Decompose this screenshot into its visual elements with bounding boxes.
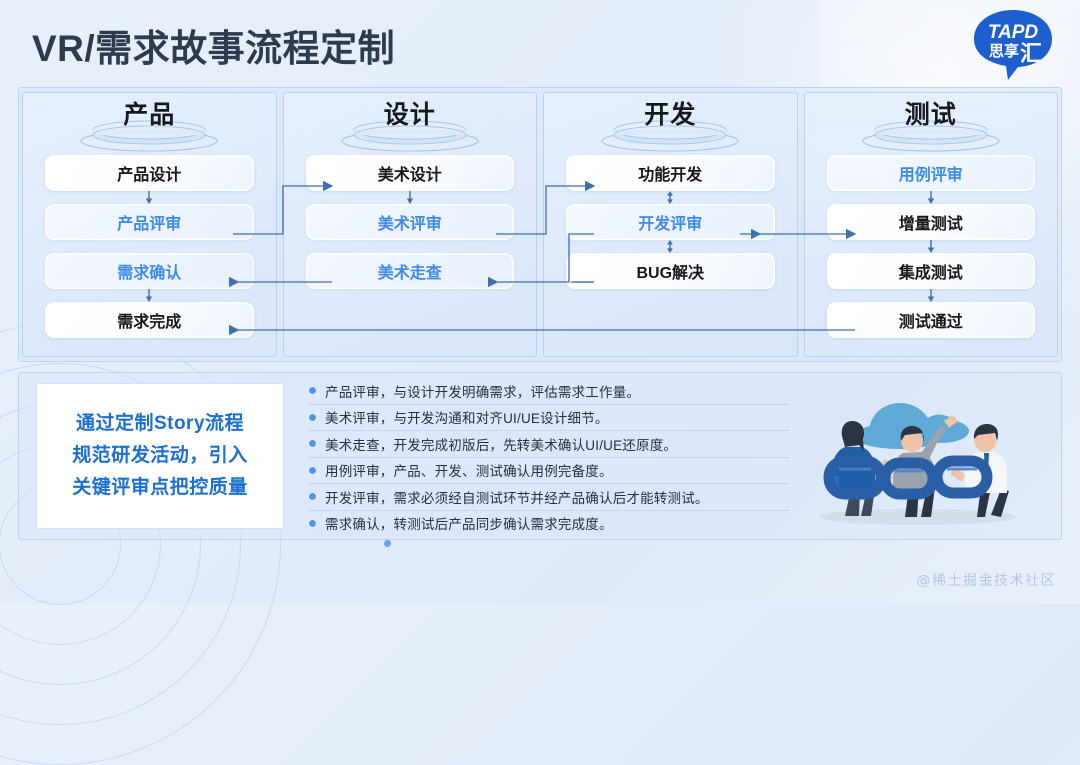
node-kaifa-pingshen[interactable]: 开发评审 (566, 204, 775, 240)
node-xuqiu-queren[interactable]: 需求确认 (45, 253, 254, 289)
callout-box: 通过定制Story流程 规范研发活动，引入 关键评审点把控质量 (36, 383, 284, 529)
node-chanpin-sheji[interactable]: 产品设计 (45, 155, 254, 191)
node-bug-jiejue[interactable]: BUG解决 (566, 253, 775, 289)
arrow-down-icon (404, 191, 415, 204)
column-nodes: 产品设计 产品评审 需求确认 需求完成 (23, 155, 276, 338)
column-title: 测试 (805, 95, 1058, 131)
callout-line-1: 通过定制Story流程 (76, 408, 244, 440)
vertical-connector-gap (827, 289, 1036, 302)
list-item: 产品评审，与设计开发明确需求，评估需求工作量。 (309, 378, 789, 405)
arrow-down-icon (925, 240, 936, 253)
background-dot (384, 540, 391, 547)
bullet-text: 开发评审，需求必须经自测试环节并经产品确认后才能转测试。 (325, 487, 709, 507)
list-item: 用例评审，产品、开发、测试确认用例完备度。 (309, 458, 789, 485)
arrow-down-icon (144, 289, 155, 302)
bullet-dot-icon (309, 520, 316, 527)
node-zengliang-ceshi[interactable]: 增量测试 (827, 204, 1036, 240)
vertical-spacer (45, 240, 254, 253)
node-ceshi-tongguo[interactable]: 测试通过 (827, 302, 1036, 338)
node-chanpin-pingshen[interactable]: 产品评审 (45, 204, 254, 240)
vertical-connector-gap (306, 191, 515, 204)
node-meishu-sheji[interactable]: 美术设计 (306, 155, 515, 191)
column-header: 测试 (805, 93, 1058, 155)
list-item: 开发评审，需求必须经自测试环节并经产品确认后才能转测试。 (309, 484, 789, 511)
vertical-connector-gap (566, 240, 775, 253)
node-yongli-pingshen[interactable]: 用例评审 (827, 155, 1036, 191)
summary-panel: 通过定制Story流程 规范研发活动，引入 关键评审点把控质量 产品评审，与设计… (18, 372, 1062, 540)
bullet-dot-icon (309, 387, 316, 394)
arrow-down-icon (925, 191, 936, 204)
callout-line-3: 关键评审点把控质量 (72, 472, 248, 504)
list-item: 美术评审，与开发沟通和对齐UI/UE设计细节。 (309, 405, 789, 432)
flow-column-development: 开发 功能开发 开发评审 (543, 92, 798, 357)
teamwork-illustration (781, 381, 1055, 531)
column-title: 产品 (23, 95, 276, 131)
bullet-dot-icon (309, 440, 316, 447)
bullet-text: 产品评审，与设计开发明确需求，评估需求工作量。 (325, 381, 640, 401)
node-meishu-zoucha[interactable]: 美术走查 (306, 253, 515, 289)
flow-columns: 产品 产品设计 产品评审 需求确认 (19, 88, 1061, 361)
callout-line-2: 规范研发活动，引入 (72, 440, 248, 472)
bullet-text: 需求确认，转测试后产品同步确认需求完成度。 (325, 513, 613, 533)
vertical-connector-gap (566, 191, 775, 204)
column-title: 设计 (284, 95, 537, 131)
node-meishu-pingshen[interactable]: 美术评审 (306, 204, 515, 240)
logo-text-hui: 汇 (1020, 41, 1042, 66)
flow-panel: 产品 产品设计 产品评审 需求确认 (18, 87, 1062, 362)
logo-speech-bubble-icon: TAPD 思享 汇 (968, 6, 1058, 84)
vertical-connector-gap (45, 289, 254, 302)
column-nodes: 用例评审 增量测试 集成测试 (805, 155, 1058, 338)
node-jicheng-ceshi[interactable]: 集成测试 (827, 253, 1036, 289)
arrow-up-down-icon (665, 240, 676, 253)
bullet-dot-icon (309, 493, 316, 500)
column-nodes: 功能开发 开发评审 BUG解决 (544, 155, 797, 289)
bullet-dot-icon (309, 467, 316, 474)
bullet-dot-icon (309, 414, 316, 421)
column-header: 开发 (544, 93, 797, 155)
list-item: 美术走查，开发完成初版后，先转美术确认UI/UE还原度。 (309, 431, 789, 458)
vertical-connector-gap (827, 191, 1036, 204)
flow-column-test: 测试 用例评审 增量测试 集成测试 (804, 92, 1059, 357)
column-title: 开发 (544, 95, 797, 131)
bullet-text: 用例评审，产品、开发、测试确认用例完备度。 (325, 460, 613, 480)
vertical-spacer (306, 240, 515, 253)
node-xuqiu-wancheng[interactable]: 需求完成 (45, 302, 254, 338)
watermark: @稀土掘金技术社区 (917, 570, 1057, 590)
arrow-down-icon (925, 289, 936, 302)
logo-text-tapd: TAPD (988, 22, 1039, 43)
vertical-connector-gap (45, 191, 254, 204)
page-title: VR/需求故事流程定制 (32, 18, 395, 72)
logo-text-sixianghui: 思享 (989, 42, 1019, 60)
bullet-text: 美术评审，与开发沟通和对齐UI/UE设计细节。 (325, 407, 609, 427)
column-nodes: 美术设计 美术评审 美术走查 (284, 155, 537, 289)
column-header: 产品 (23, 93, 276, 155)
flow-column-design: 设计 美术设计 美术评审 美术走查 (283, 92, 538, 357)
tapd-logo: TAPD 思享 汇 (968, 6, 1058, 84)
list-item: 需求确认，转测试后产品同步确认需求完成度。 (309, 511, 789, 537)
vertical-connector-gap (827, 240, 1036, 253)
flow-column-product: 产品 产品设计 产品评审 需求确认 (22, 92, 277, 357)
node-gongneng-kaifa[interactable]: 功能开发 (566, 155, 775, 191)
bullet-text: 美术走查，开发完成初版后，先转美术确认UI/UE还原度。 (325, 434, 677, 454)
column-header: 设计 (284, 93, 537, 155)
bullet-list: 产品评审，与设计开发明确需求，评估需求工作量。 美术评审，与开发沟通和对齐UI/… (309, 378, 789, 536)
arrow-down-icon (144, 191, 155, 204)
arrow-up-down-icon (665, 191, 676, 204)
